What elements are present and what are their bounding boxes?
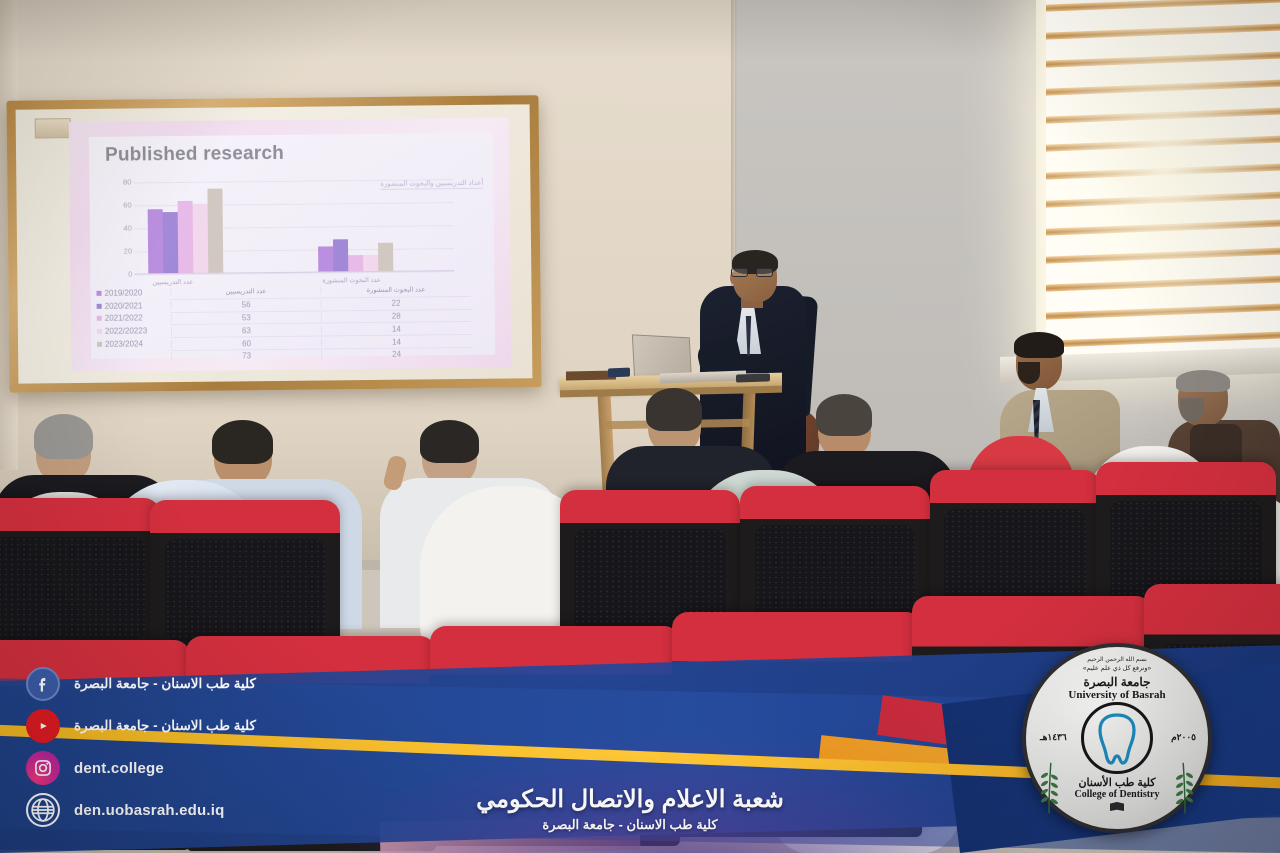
legend-label: 2020/2021 xyxy=(105,301,143,310)
chart-bar-group: عدد البحوث المنشورة xyxy=(318,239,393,272)
legend-item: 2019/2020 xyxy=(96,286,168,300)
blind-slat xyxy=(1046,0,1280,12)
logo-university-arabic: جامعة البصرة xyxy=(1084,675,1151,689)
wheat-right-icon xyxy=(1176,758,1194,818)
chair-mesh xyxy=(0,537,145,639)
blind-slat xyxy=(1046,106,1280,124)
banner-center-text: شعبة الاعلام والاتصال الحكومي كلية طب ال… xyxy=(430,785,830,833)
speaker-glasses-icon xyxy=(731,268,777,277)
chart-bar-group: عدد التدريسيين xyxy=(147,189,223,274)
legend-item: 2021/2022 xyxy=(97,312,169,326)
table-cell: 60 xyxy=(171,338,321,349)
legend-label: 2022/20223 xyxy=(105,327,147,336)
projected-slide: Published research أعداد التدريسيين والب… xyxy=(69,118,512,373)
whiteboard: Published research أعداد التدريسيين والب… xyxy=(6,95,541,393)
legend-swatch xyxy=(96,291,101,296)
chart-bar xyxy=(363,255,378,271)
legend-item: 2020/2021 xyxy=(97,299,169,313)
audience-chair xyxy=(150,500,340,650)
social-link[interactable]: كلية طب الاسنان - جامعة البصرة xyxy=(26,705,446,747)
logo-university-english: University of Basrah xyxy=(1068,689,1165,701)
chart-y-tick: 40 xyxy=(123,223,131,232)
chart-y-tick: 0 xyxy=(128,269,132,278)
audience-hair xyxy=(646,388,702,431)
chart-bar xyxy=(178,200,194,273)
audience-hair xyxy=(420,420,479,463)
department-subtitle: كلية طب الاسنان - جامعة البصرة xyxy=(430,817,830,833)
screenshot-root: Published research أعداد التدريسيين والب… xyxy=(0,0,1280,853)
chart-data-table: عدد التدريسيينعدد البحوث المنشورة5622532… xyxy=(170,283,471,363)
globe-icon[interactable] xyxy=(26,793,60,827)
seated-man-1-beard xyxy=(1018,362,1040,384)
chart-bar xyxy=(333,239,348,271)
chart-y-tick: 80 xyxy=(123,177,131,186)
chart-bar xyxy=(193,204,209,273)
tooth-icon xyxy=(1095,710,1139,766)
university-logo: بسم الله الرحمن الرحيم «ونرفع كل ذي علم … xyxy=(1022,643,1212,833)
legend-swatch xyxy=(97,342,102,347)
audience-chair xyxy=(0,498,160,648)
blind-slat xyxy=(1046,330,1280,348)
slide-title: Published research xyxy=(105,143,284,167)
logo-year-hijri: ١٤٣٦هـ xyxy=(1040,732,1067,743)
blind-slat xyxy=(1046,218,1280,236)
wheat-left-icon xyxy=(1040,758,1058,818)
seated-man-1-hair xyxy=(1014,332,1064,358)
legend-swatch xyxy=(97,316,102,321)
logo-college-english: College of Dentistry xyxy=(1075,789,1160,800)
blind-slat xyxy=(1046,50,1280,68)
blind-slat xyxy=(1046,162,1280,180)
chart-bar xyxy=(163,212,179,273)
social-link[interactable]: den.uobasrah.edu.iq xyxy=(26,789,446,831)
legend-swatch xyxy=(97,303,102,308)
legend-label: 2021/2022 xyxy=(105,314,143,323)
department-title: شعبة الاعلام والاتصال الحكومي xyxy=(430,785,830,814)
whiteboard-clip xyxy=(35,118,71,138)
chart-legend: 2019/20202020/20212021/20222022/20223202… xyxy=(96,286,169,351)
social-handle: den.uobasrah.edu.iq xyxy=(74,802,224,819)
bar-chart-plot: 806040200 عدد التدريسيينعدد البحوث المنش… xyxy=(133,179,454,274)
social-links: كلية طب الاسنان - جامعة البصرةكلية طب ال… xyxy=(26,663,446,831)
table-cell: 56 xyxy=(171,300,321,311)
logo-emblem-area: ١٤٣٦هـ ٢٠٠٥م xyxy=(1026,702,1208,776)
audience-hair xyxy=(816,394,872,436)
legend-item: 2022/20223 xyxy=(97,324,169,338)
logo-basmala-line2: «ونرفع كل ذي علم عليم» xyxy=(1083,664,1151,672)
blind-slat xyxy=(1046,246,1280,264)
audience-hair xyxy=(212,420,273,464)
table-column-header: عدد التدريسيين xyxy=(170,287,320,297)
table-row: 7324 xyxy=(171,347,471,363)
podium-object-dark xyxy=(736,373,770,382)
social-handle: كلية طب الاسنان - جامعة البصرة xyxy=(74,676,256,692)
chart-bar xyxy=(318,246,333,271)
facebook-icon[interactable] xyxy=(26,667,60,701)
seated-man-2-beard xyxy=(1180,398,1204,422)
logo-basmala-line1: بسم الله الرحمن الرحيم xyxy=(1087,656,1147,663)
open-book-icon xyxy=(1110,802,1124,811)
table-cell: 24 xyxy=(321,349,471,360)
instagram-icon[interactable] xyxy=(26,751,60,785)
chart-bar xyxy=(207,189,223,273)
window-blinds xyxy=(1046,0,1280,367)
blind-slat xyxy=(1046,302,1280,320)
social-handle: كلية طب الاسنان - جامعة البصرة xyxy=(74,718,256,734)
table-cell: 28 xyxy=(321,311,471,322)
table-cell: 53 xyxy=(171,312,321,323)
window-with-blinds xyxy=(1046,0,1280,367)
slide-content: Published research أعداد التدريسيين والب… xyxy=(89,133,495,359)
chart-bar xyxy=(348,255,363,271)
chart-y-axis: 806040200 xyxy=(107,182,132,274)
blind-slat xyxy=(1046,22,1280,40)
logo-year-gregorian: ٢٠٠٥م xyxy=(1171,732,1196,743)
table-column-header: عدد البحوث المنشورة xyxy=(320,285,470,295)
social-link[interactable]: كلية طب الاسنان - جامعة البصرة xyxy=(26,663,446,705)
chart-y-tick: 20 xyxy=(124,246,132,255)
blind-slat xyxy=(1046,274,1280,292)
blind-slat xyxy=(1046,134,1280,152)
youtube-icon[interactable] xyxy=(26,709,60,743)
table-cell: 14 xyxy=(321,324,471,335)
chart-bar xyxy=(148,209,164,274)
seated-man-2-hair xyxy=(1176,370,1230,392)
chart-gridline xyxy=(133,179,453,183)
social-link[interactable]: dent.college xyxy=(26,747,446,789)
legend-label: 2019/2020 xyxy=(104,288,142,297)
chart-bar xyxy=(378,243,393,271)
legend-item: 2023/2024 xyxy=(97,337,169,351)
legend-label: 2023/2024 xyxy=(105,339,143,348)
logo-college-arabic: كلية طب الأسنان xyxy=(1078,776,1155,789)
chair-mesh xyxy=(165,539,325,641)
social-handle: dent.college xyxy=(74,760,164,777)
legend-swatch xyxy=(97,329,102,334)
podium-object-blue xyxy=(608,368,630,378)
blind-slat xyxy=(1046,78,1280,96)
table-cell: 22 xyxy=(321,298,471,309)
blind-slat xyxy=(1046,190,1280,208)
table-cell: 14 xyxy=(321,337,471,348)
audience-hair xyxy=(34,414,93,459)
table-cell: 73 xyxy=(171,351,321,362)
chart-y-tick: 60 xyxy=(123,200,131,209)
table-cell: 63 xyxy=(171,325,321,336)
